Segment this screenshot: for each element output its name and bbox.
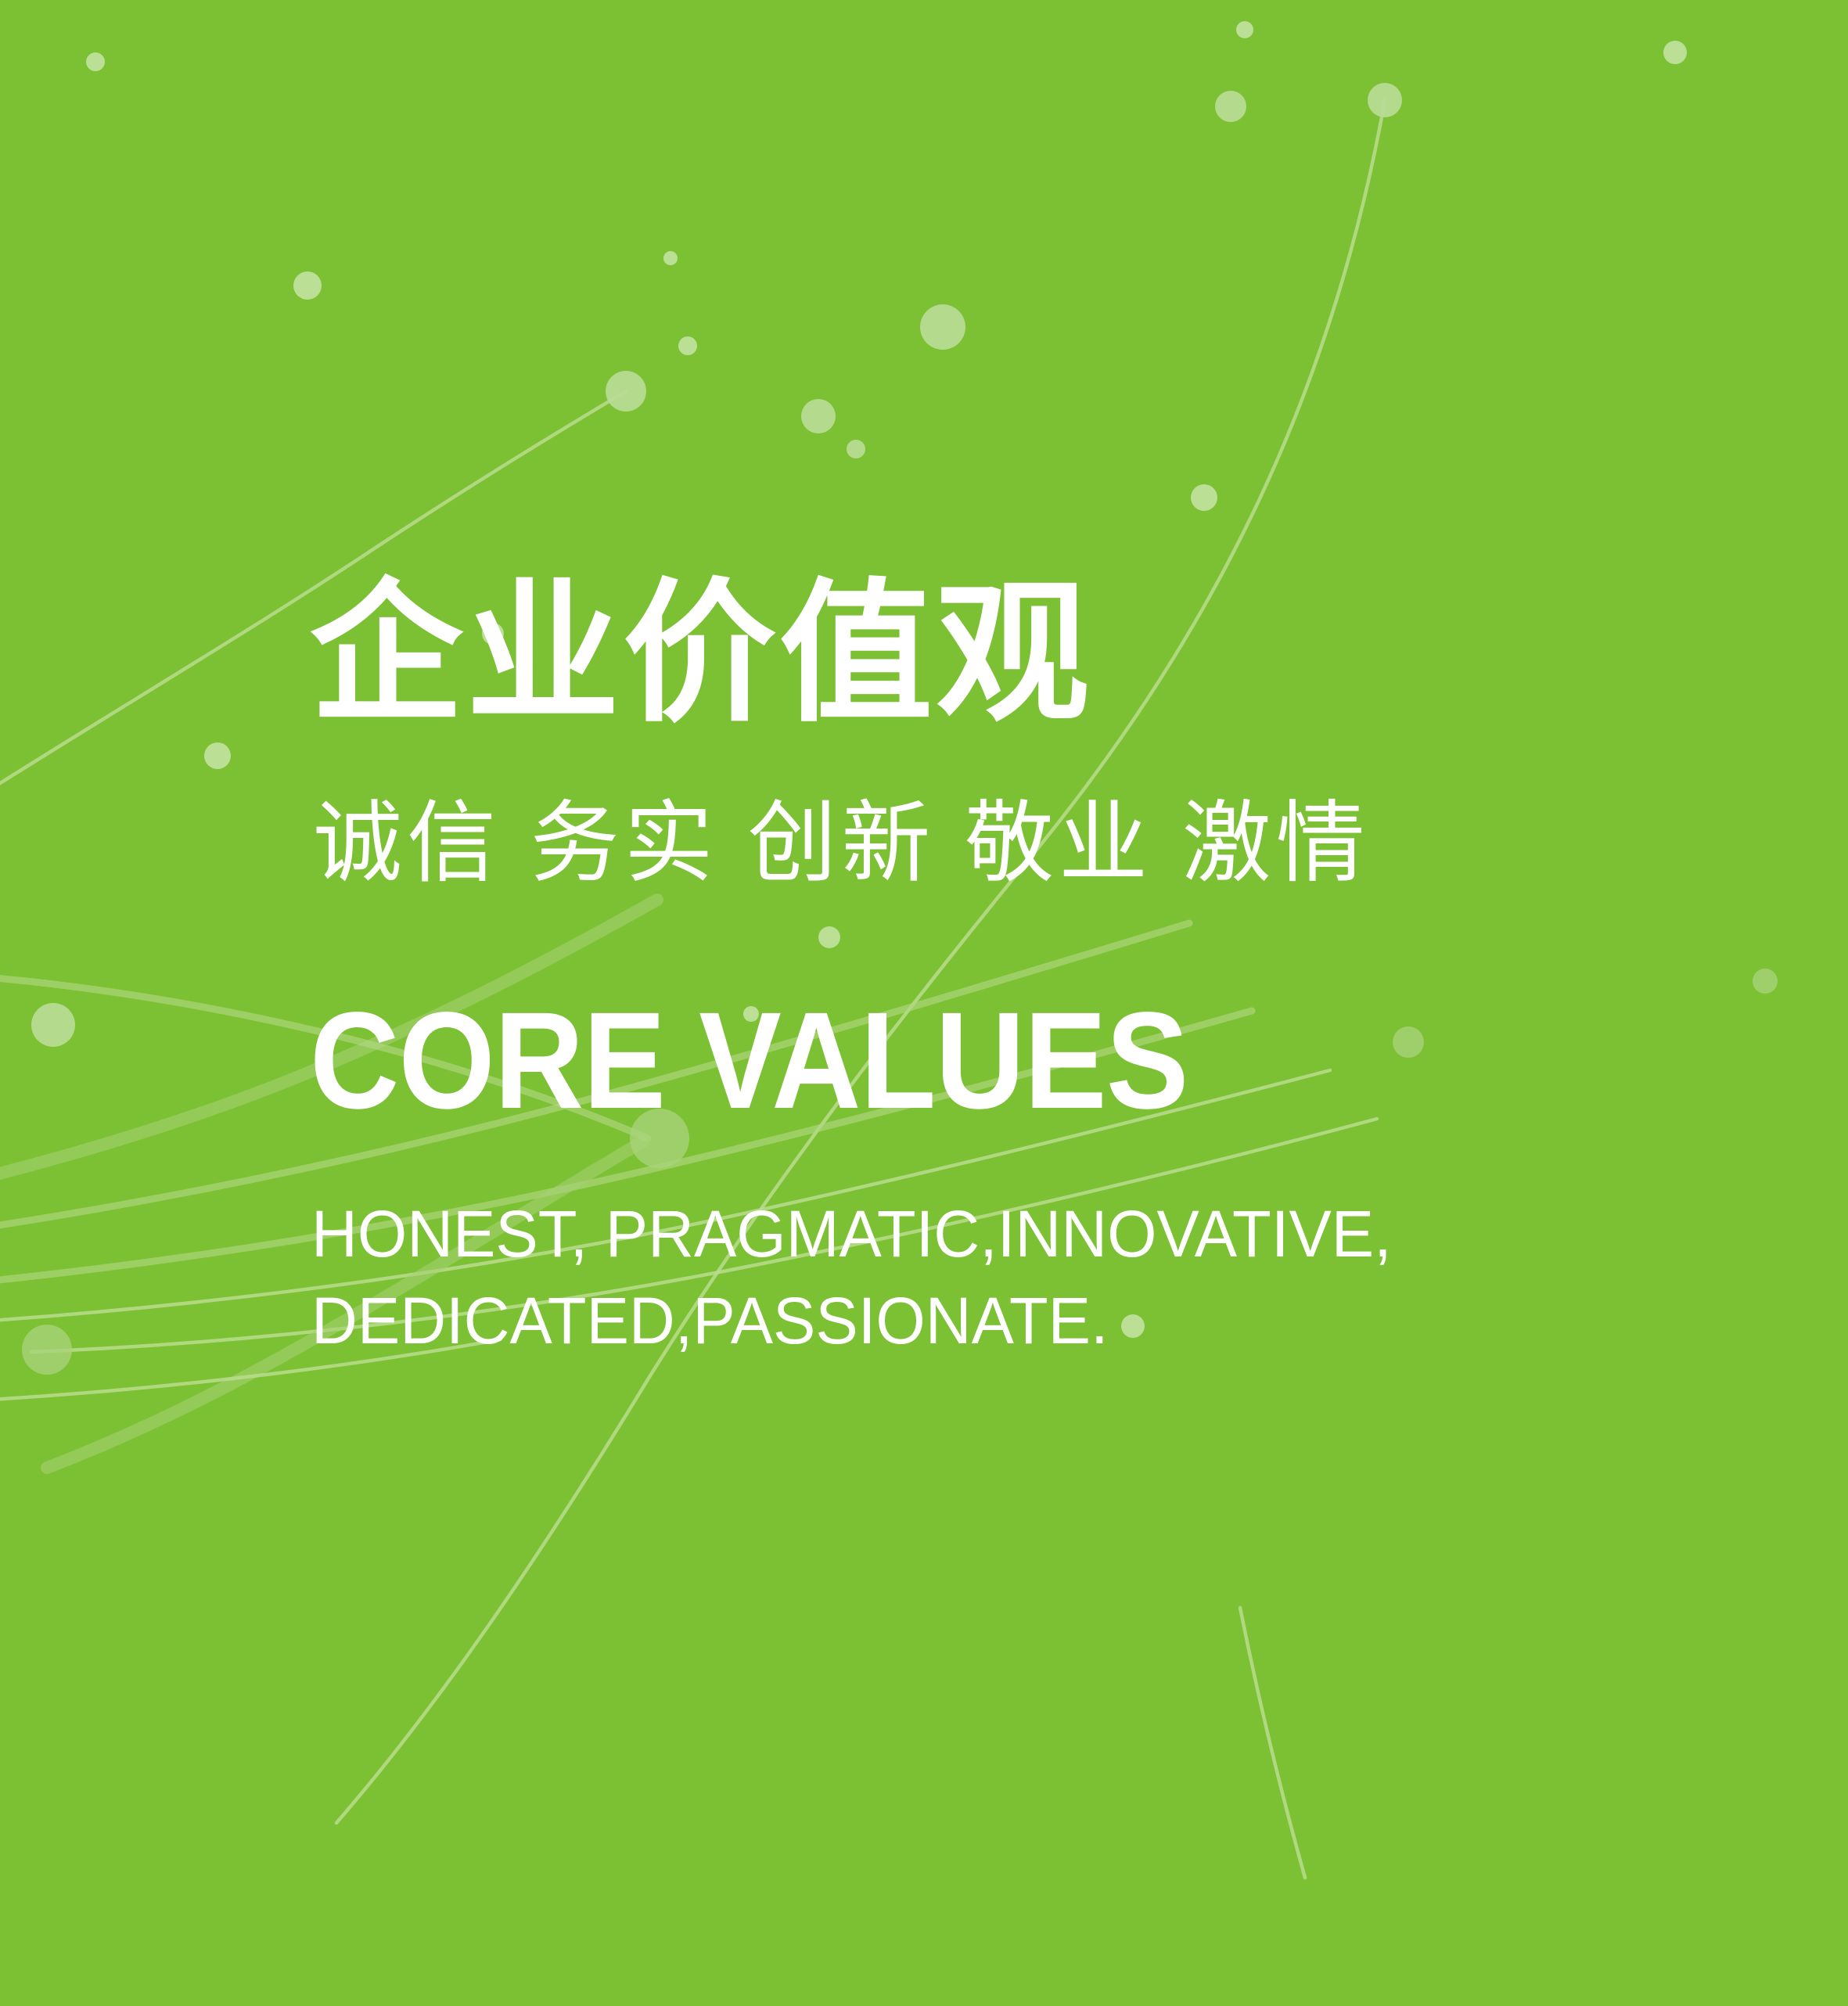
page-title-cn: 企业价值观 <box>310 577 1092 731</box>
page-subtitle-cn: 诚信 务实 创新 敬业 激情 <box>313 800 1370 889</box>
decor-node <box>204 742 231 769</box>
decor-node <box>86 52 105 71</box>
core-values-banner: .ln { fill:none; stroke:#BBDD92; stroke-… <box>0 0 1848 2006</box>
decor-node <box>31 1003 75 1047</box>
page-description-en: HONEST, PRAGMATIC,INNOVATIVE, DEDICATED,… <box>311 1191 1392 1364</box>
banner-content: 企业价值观 诚信 务实 创新 敬业 激情 CORE VALUES HONEST,… <box>310 0 1796 2006</box>
page-title-en: CORE VALUES <box>310 992 1188 1130</box>
decor-node <box>22 1325 72 1375</box>
